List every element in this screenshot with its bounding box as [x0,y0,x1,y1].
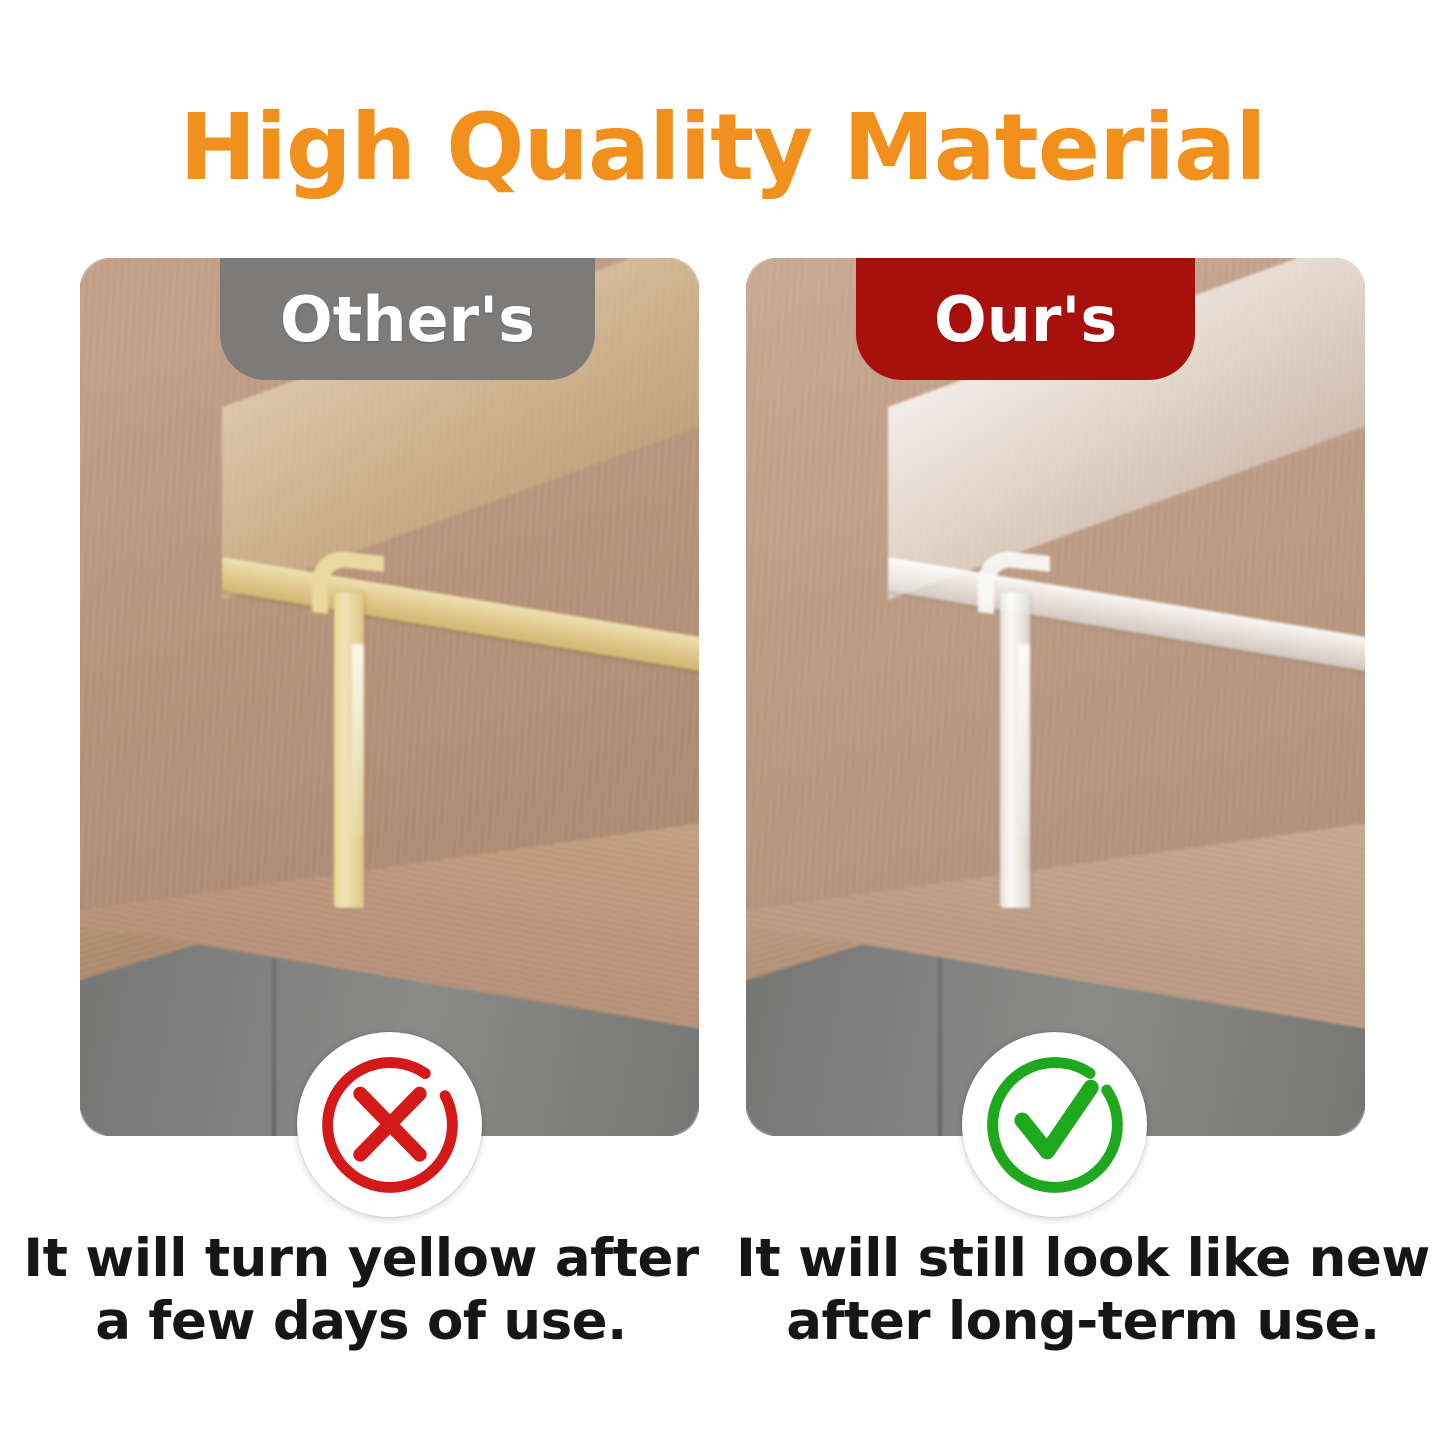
photo-ours-edge-guard [746,258,1365,1136]
badge-ours: Our's [856,258,1195,380]
edge-guard-highlight [352,644,364,837]
cross-icon-glyph [312,1047,468,1203]
caption-ours: It will still look like new after long-t… [722,1228,1444,1353]
caption-ours-line1: It will still look like new [722,1228,1444,1291]
check-icon-glyph [977,1047,1133,1203]
product-comparison-page: High Quality Material Other's [0,0,1445,1445]
edge-guard-highlight [1018,644,1030,837]
page-title: High Quality Material [0,100,1445,197]
cross-icon [297,1032,482,1217]
caption-other: It will turn yellow after a few days of … [0,1228,722,1353]
comparison-panels: Other's Our's [80,258,1365,1136]
comparison-panel-other: Other's [80,258,699,1136]
comparison-panel-ours: Our's [746,258,1365,1136]
caption-other-line2: a few days of use. [0,1291,722,1354]
caption-other-line1: It will turn yellow after [0,1228,722,1291]
caption-ours-line2: after long-term use. [722,1291,1444,1354]
check-icon [962,1032,1147,1217]
badge-other: Other's [220,258,595,380]
captions-row: It will turn yellow after a few days of … [0,1228,1445,1353]
photo-other-edge-guard [80,258,699,1136]
